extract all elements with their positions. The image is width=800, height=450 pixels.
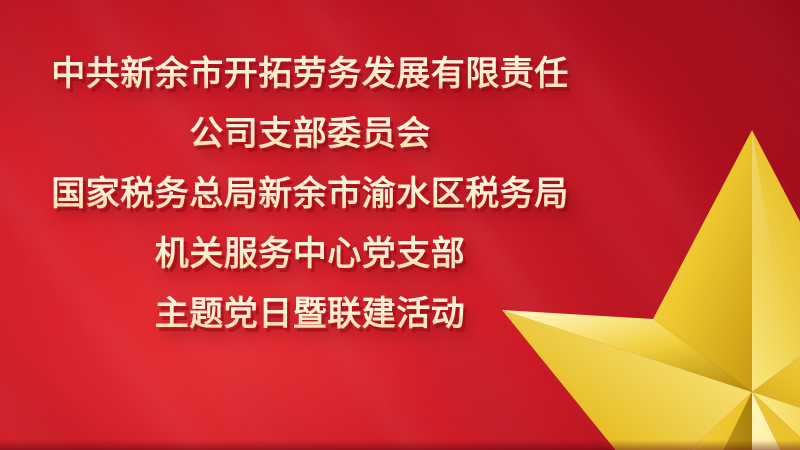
title-line-2: 公司支部委员会 xyxy=(0,104,620,164)
title-line-5: 主题党日暨联建活动 xyxy=(0,284,620,344)
bottom-edge-shade xyxy=(0,440,800,450)
title-line-4: 机关服务中心党支部 xyxy=(0,224,620,284)
title-line-1: 中共新余市开拓劳务发展有限责任 xyxy=(0,44,620,104)
title-line-3: 国家税务总局新余市渝水区税务局 xyxy=(0,164,620,224)
poster-title-block: 中共新余市开拓劳务发展有限责任 公司支部委员会 国家税务总局新余市渝水区税务局 … xyxy=(0,44,620,344)
poster-canvas: 中共新余市开拓劳务发展有限责任 公司支部委员会 国家税务总局新余市渝水区税务局 … xyxy=(0,0,800,450)
